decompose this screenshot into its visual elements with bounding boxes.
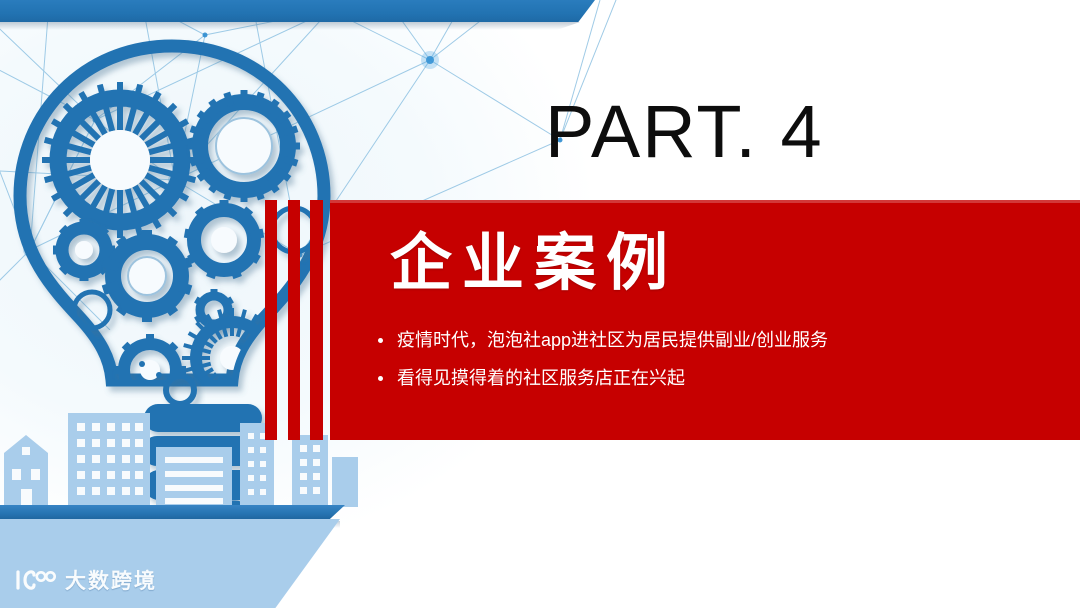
watermark-brand: 大数跨境 xyxy=(65,565,157,595)
list-item: 看得见摸得着的社区服务店正在兴起 xyxy=(378,365,1058,393)
ground-bar xyxy=(0,505,345,521)
red-stripe-1 xyxy=(265,200,277,440)
red-stripe-3 xyxy=(310,200,323,440)
section-heading: 企业案例 xyxy=(390,231,678,296)
ico-infinity-logo-icon xyxy=(12,568,56,592)
bullet-dot-icon xyxy=(378,338,383,343)
list-item: 疫情时代，泡泡社app进社区为居民提供副业/创业服务 xyxy=(378,327,1058,355)
page-title: PART. 4 xyxy=(545,95,824,169)
bullet-list: 疫情时代，泡泡社app进社区为居民提供副业/创业服务 看得见摸得着的社区服务店正… xyxy=(378,327,1058,403)
red-block-top-edge xyxy=(330,200,1080,203)
bullet-text: 看得见摸得着的社区服务店正在兴起 xyxy=(397,365,685,393)
watermark: 大数跨境 xyxy=(12,565,157,595)
bullet-text: 疫情时代，泡泡社app进社区为居民提供副业/创业服务 xyxy=(397,327,828,355)
red-stripe-2 xyxy=(288,200,300,440)
slide-canvas: PART. 4 企业案例 疫情时代，泡泡社app进社区为居民提供副业/创业服务 … xyxy=(0,0,1080,608)
bullet-dot-icon xyxy=(378,376,383,381)
